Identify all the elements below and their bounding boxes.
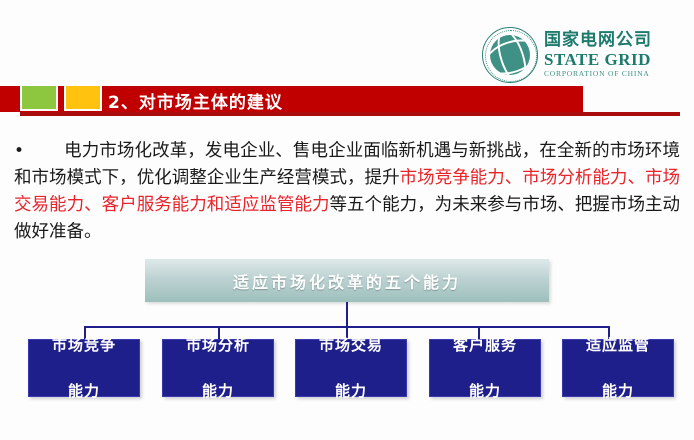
diagram-leaf-node-4: 客户服务能力 [429, 339, 541, 397]
diagram-root-label: 适应市场化改革的五个能力 [233, 269, 461, 293]
diagram-root-node: 适应市场化改革的五个能力 [145, 259, 549, 302]
diagram-leaf-node-5: 适应监管能力 [562, 339, 674, 397]
decor-square-green [20, 84, 58, 111]
state-grid-globe-emblem-icon [482, 27, 538, 83]
state-grid-logo: 国家电网公司 STATE GRID CORPORATION OF CHINA [482, 26, 687, 84]
capability-diagram: 适应市场化改革的五个能力 市场竞争能力 市场分析能力 市场交易能力 客户服务能力… [0, 252, 694, 427]
bullet-icon: • [14, 138, 30, 165]
slide-canvas: 国家电网公司 STATE GRID CORPORATION OF CHINA 2… [0, 0, 694, 440]
logo-company-sub-en: CORPORATION OF CHINA [544, 70, 652, 78]
diagram-leaf-label-1: 市场竞争能力 [41, 334, 127, 403]
body-paragraph: •电力市场化改革，发电企业、售电企业面临新机遇与新挑战，在全新的市场环境和市场模… [14, 138, 680, 246]
diagram-leaf-node-2: 市场分析能力 [162, 339, 274, 397]
body-text-block: •电力市场化改革，发电企业、售电企业面临新机遇与新挑战，在全新的市场环境和市场模… [14, 120, 680, 263]
connector-stem [346, 302, 348, 327]
logo-text-block: 国家电网公司 STATE GRID CORPORATION OF CHINA [544, 32, 652, 78]
diagram-leaf-label-3: 市场交易能力 [308, 334, 394, 403]
page-title: 2、对市场主体的建议 [108, 88, 283, 113]
decor-square-yellow [64, 84, 102, 111]
diagram-leaf-label-2: 市场分析能力 [175, 334, 261, 403]
logo-company-en: STATE GRID [544, 51, 652, 68]
diagram-leaf-label-5: 适应监管能力 [575, 334, 661, 403]
diagram-leaf-node-3: 市场交易能力 [295, 339, 407, 397]
diagram-leaf-node-1: 市场竞争能力 [28, 339, 140, 397]
section-title-underline [20, 112, 680, 116]
logo-company-cn: 国家电网公司 [544, 32, 652, 49]
diagram-leaf-label-4: 客户服务能力 [442, 334, 528, 403]
